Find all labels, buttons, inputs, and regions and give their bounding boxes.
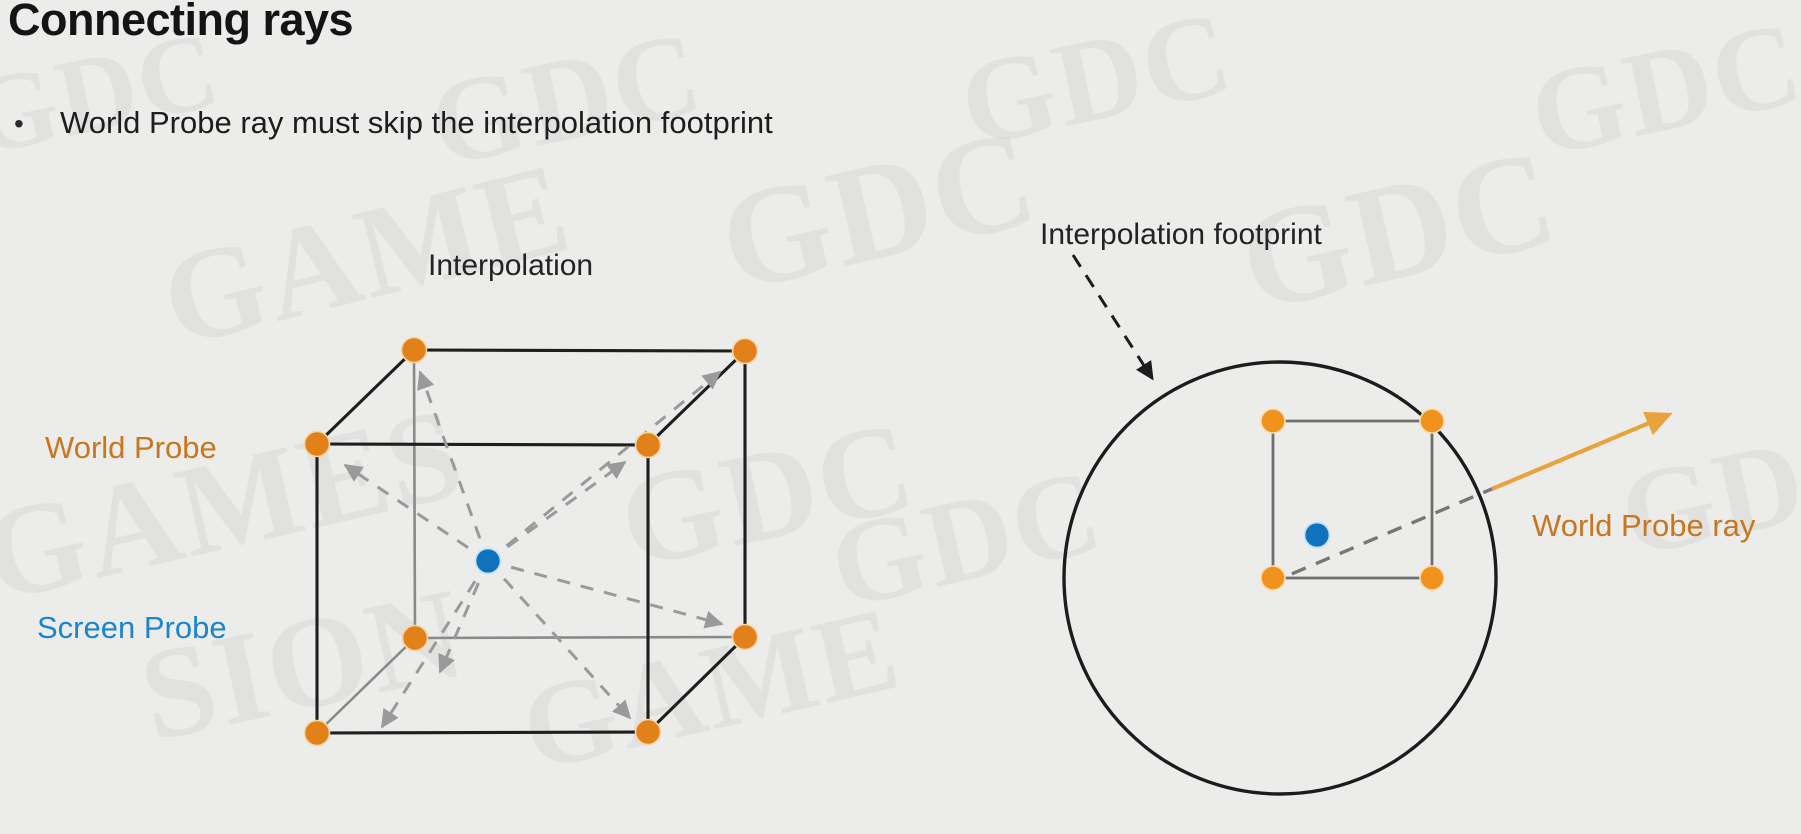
legend-screen-probe: Screen Probe	[37, 610, 227, 646]
world-probe-node	[402, 338, 427, 363]
world-probe-node	[733, 625, 758, 650]
page-title: Connecting rays	[8, 0, 353, 46]
interpolation-ray	[488, 561, 722, 624]
cube-diagram	[305, 338, 758, 746]
world-probe-node	[733, 339, 758, 364]
cube-edge-front-bottom	[317, 732, 648, 733]
bullet-row: • World Probe ray must skip the interpol…	[14, 105, 773, 141]
legend-world-probe: World Probe	[45, 430, 217, 466]
label-interpolation-footprint: Interpolation footprint	[1040, 218, 1322, 252]
interpolation-ray	[440, 561, 488, 672]
cube-edge-back-bottom-left-diag	[317, 638, 415, 733]
footprint-square	[1273, 421, 1432, 578]
world-probe-node	[1420, 566, 1444, 590]
label-interpolation: Interpolation	[428, 249, 593, 283]
cube-back-edges	[317, 350, 745, 733]
cube-edge-back-vertical-left	[414, 350, 415, 638]
world-probe-node	[305, 432, 330, 457]
world-probe-ray-arrow	[1492, 415, 1668, 489]
footprint-world-probe-nodes	[1261, 409, 1444, 590]
cube-edge-back-bottom	[415, 637, 745, 638]
bullet-marker-icon: •	[14, 110, 60, 138]
cube-edge-diag-top-right	[648, 351, 745, 445]
world-probe-ray-dashed-segment	[1268, 488, 1494, 584]
screen-probe-node	[476, 549, 501, 574]
world-probe-node	[636, 720, 661, 745]
footprint-callout-arrow	[1073, 255, 1152, 378]
world-probe-node	[1261, 566, 1285, 590]
world-probe-node	[305, 721, 330, 746]
interpolation-ray	[382, 561, 488, 727]
cube-edge-diag-top-left	[317, 350, 414, 444]
interpolation-ray	[420, 372, 488, 561]
interpolation-ray	[345, 465, 488, 561]
bullet-text: World Probe ray must skip the interpolat…	[60, 105, 773, 141]
interpolation-ray	[488, 462, 625, 561]
cube-edge-front-top	[317, 444, 648, 445]
cube-front-edges	[317, 350, 745, 733]
world-probe-node	[403, 626, 428, 651]
cube-edge-diag-bottom-right	[648, 637, 745, 732]
slide-canvas: GDC GAME GDC GDC GDC GDC GDC GAMES GDC G…	[0, 0, 1801, 834]
world-probe-node	[1261, 409, 1285, 433]
cube-world-probe-nodes	[305, 338, 758, 746]
screen-probe-node	[1305, 523, 1330, 548]
interpolation-ray	[488, 561, 630, 718]
cube-edge-back-top	[414, 350, 745, 351]
world-probe-node	[1420, 409, 1444, 433]
label-world-probe-ray: World Probe ray	[1532, 508, 1755, 544]
interpolation-rays	[345, 372, 722, 727]
interpolation-ray	[488, 372, 720, 561]
world-probe-node	[636, 433, 661, 458]
